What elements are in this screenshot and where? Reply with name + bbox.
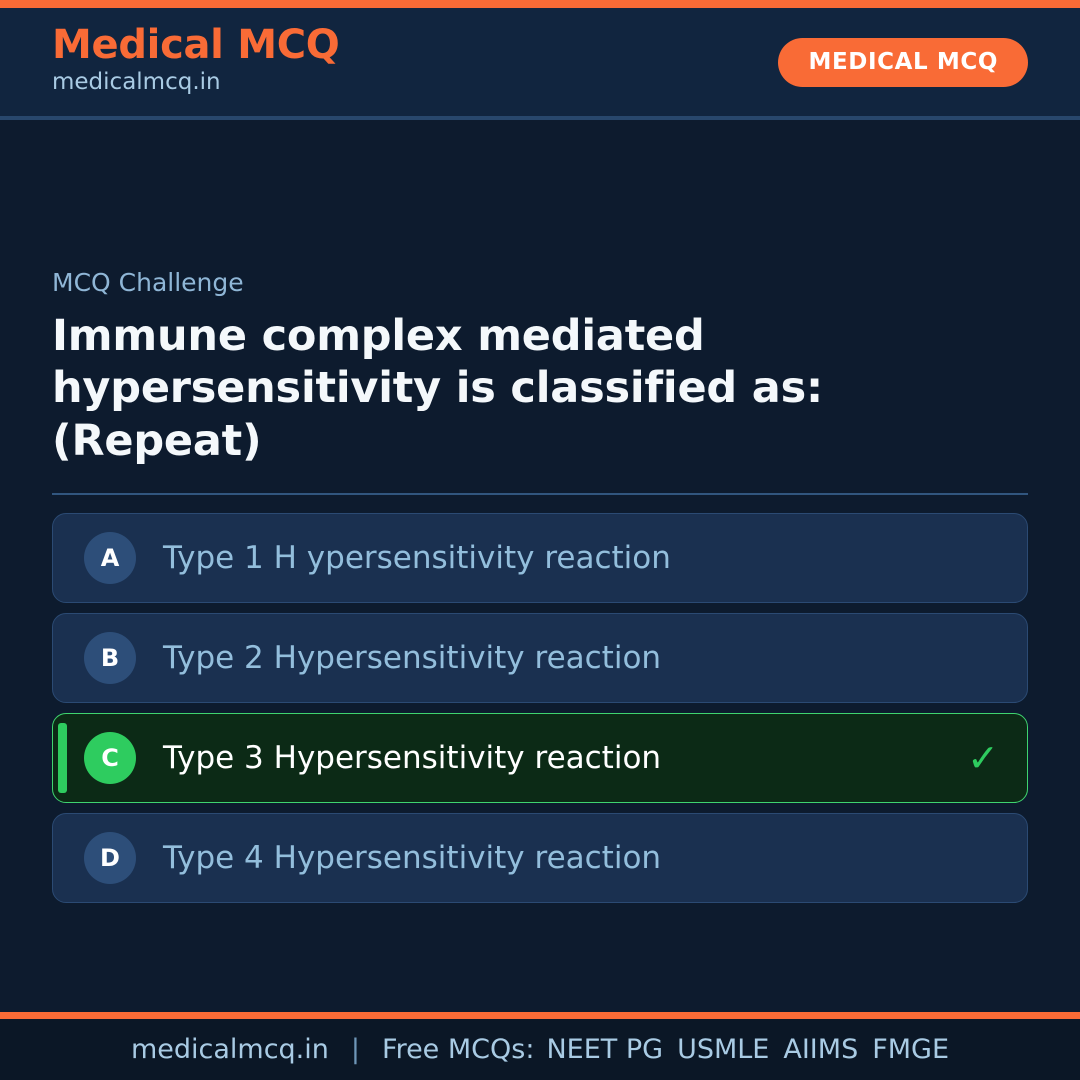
footer-tag-neet-pg: NEET PG: [546, 1034, 663, 1065]
footer-tag-fmge: FMGE: [872, 1034, 949, 1065]
option-text: Type 3 Hypersensitivity reaction: [163, 740, 963, 777]
question-eyebrow: MCQ Challenge: [52, 268, 1028, 298]
brand-title: Medical MCQ: [52, 24, 339, 67]
footer: medicalmcq.in | Free MCQs: NEET PG USMLE…: [0, 1012, 1080, 1080]
footer-row: medicalmcq.in | Free MCQs: NEET PG USMLE…: [131, 1034, 949, 1065]
options-list: A Type 1 H ypersensitivity reaction ✓ B …: [52, 513, 1028, 903]
footer-separator: |: [351, 1034, 360, 1065]
question-divider: [52, 493, 1028, 495]
mcq-card: Medical MCQ medicalmcq.in MEDICAL MCQ MC…: [0, 0, 1080, 1080]
option-a[interactable]: A Type 1 H ypersensitivity reaction ✓: [52, 513, 1028, 603]
option-c[interactable]: C Type 3 Hypersensitivity reaction ✓: [52, 713, 1028, 803]
option-text: Type 2 Hypersensitivity reaction: [163, 640, 963, 677]
question-block: MCQ Challenge Immune complex mediated hy…: [52, 268, 1028, 495]
footer-label: Free MCQs:: [382, 1034, 534, 1065]
correct-accent-bar: [58, 723, 67, 793]
footer-site: medicalmcq.in: [131, 1034, 329, 1065]
brand-block: Medical MCQ medicalmcq.in: [52, 24, 339, 97]
footer-tag-usmle: USMLE: [677, 1034, 769, 1065]
main-content: MCQ Challenge Immune complex mediated hy…: [0, 120, 1080, 1012]
brand-subtitle: medicalmcq.in: [52, 69, 339, 97]
option-d[interactable]: D Type 4 Hypersensitivity reaction ✓: [52, 813, 1028, 903]
header: Medical MCQ medicalmcq.in MEDICAL MCQ: [0, 8, 1080, 120]
option-letter-badge: C: [84, 732, 136, 784]
top-accent-bar: [0, 0, 1080, 8]
option-text: Type 4 Hypersensitivity reaction: [163, 840, 963, 877]
footer-tag-aiims: AIIMS: [783, 1034, 858, 1065]
option-letter-badge: B: [84, 632, 136, 684]
option-letter-badge: A: [84, 532, 136, 584]
option-b[interactable]: B Type 2 Hypersensitivity reaction ✓: [52, 613, 1028, 703]
brand-pill-badge: MEDICAL MCQ: [778, 38, 1028, 87]
option-letter-badge: D: [84, 832, 136, 884]
question-title: Immune complex mediated hypersensitivity…: [52, 310, 1012, 467]
check-icon: ✓: [963, 739, 1003, 777]
option-text: Type 1 H ypersensitivity reaction: [163, 540, 963, 577]
